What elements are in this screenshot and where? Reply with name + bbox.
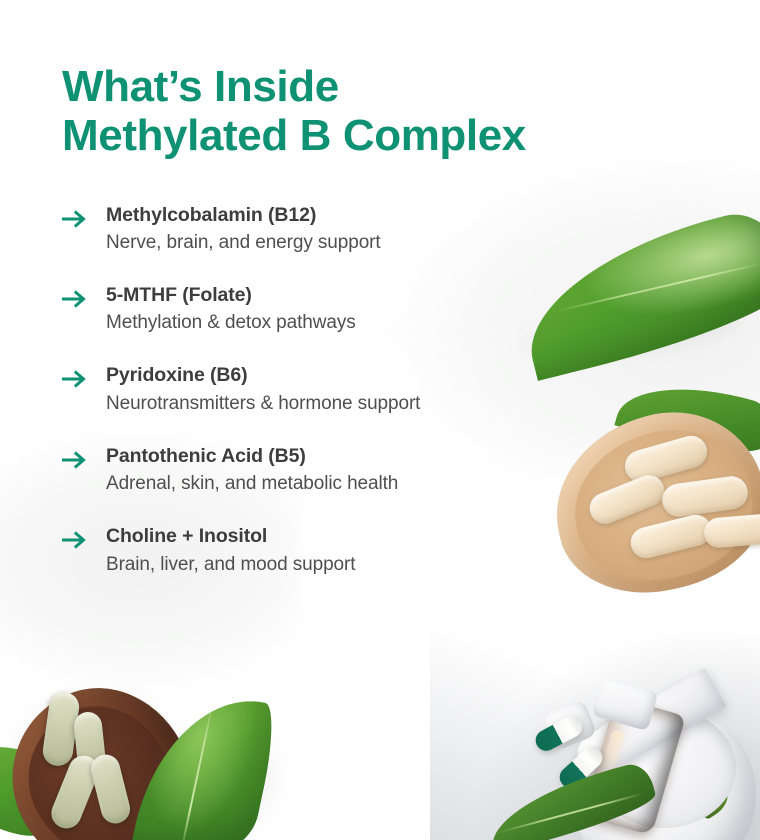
list-item: Methylcobalamin (B12) Nerve, brain, and … — [62, 203, 760, 255]
green-white-capsule — [555, 743, 606, 792]
ingredient-list: Methylcobalamin (B12) Nerve, brain, and … — [62, 203, 760, 577]
product-ingredients-graphic: What’s Inside Methylated B Complex Methy… — [0, 0, 760, 840]
list-item: Pyridoxine (B6) Neurotransmitters & horm… — [62, 363, 760, 415]
ingredient-name: Pyridoxine (B6) — [106, 364, 248, 386]
page-title: What’s Inside Methylated B Complex — [62, 62, 622, 161]
white-pestle — [569, 668, 726, 784]
green-white-capsule — [532, 712, 586, 754]
white-bottle-cap-loose — [542, 699, 597, 751]
list-item: Pantothenic Acid (B5) Adrenal, skin, and… — [62, 444, 760, 496]
bay-leaf-in-mortar — [626, 691, 735, 827]
herbal-capsule — [73, 711, 108, 780]
leaf-shadow — [150, 724, 290, 840]
list-item-text: Pyridoxine (B6) Neurotransmitters & horm… — [106, 363, 760, 415]
white-mortar-bowl — [572, 702, 756, 840]
ingredient-description: Neurotransmitters & hormone support — [106, 391, 760, 416]
arrow-right-icon — [62, 367, 88, 391]
page-title-line-1: What’s Inside — [62, 62, 622, 111]
green-leaf-bottom-left — [129, 682, 281, 840]
herbal-capsule — [41, 690, 81, 767]
herbal-capsule — [47, 751, 103, 833]
bay-leaf-bottom-center — [482, 760, 660, 840]
ingredient-name: Methylcobalamin (B12) — [106, 204, 316, 226]
arrow-right-icon — [62, 207, 88, 231]
white-bottle-cap — [592, 677, 659, 731]
dark-wooden-bowl — [0, 660, 220, 840]
arrow-right-icon — [62, 528, 88, 552]
list-item: Choline + Inositol Brain, liver, and moo… — [62, 524, 760, 576]
ingredient-description: Adrenal, skin, and metabolic health — [106, 471, 760, 496]
list-item-text: 5-MTHF (Folate) Methylation & detox path… — [106, 283, 760, 335]
ingredient-name: Pantothenic Acid (B5) — [106, 445, 306, 467]
ingredient-description: Methylation & detox pathways — [106, 310, 760, 335]
white-mortar-rim — [592, 708, 736, 828]
page-title-line-2: Methylated B Complex — [62, 111, 622, 160]
list-item-text: Pantothenic Acid (B5) Adrenal, skin, and… — [106, 444, 760, 496]
mortar-shadow — [562, 704, 752, 840]
pestle-hole — [609, 699, 622, 712]
ingredient-name: Choline + Inositol — [106, 525, 267, 547]
amber-dropper-bottle — [582, 696, 685, 835]
list-item-text: Choline + Inositol Brain, liver, and moo… — [106, 524, 760, 576]
leaf-vein — [180, 703, 213, 840]
arrow-right-icon — [62, 287, 88, 311]
bottle-highlight — [602, 729, 626, 771]
list-item-text: Methylcobalamin (B12) Nerve, brain, and … — [106, 203, 760, 255]
content-area: What’s Inside Methylated B Complex Methy… — [0, 0, 760, 577]
marble-surface — [430, 590, 760, 840]
green-leaf-left-edge — [0, 712, 79, 840]
list-item: 5-MTHF (Folate) Methylation & detox path… — [62, 283, 760, 335]
bowl-shadow — [6, 696, 186, 840]
dark-wooden-bowl-well — [6, 684, 195, 840]
arrow-right-icon — [62, 448, 88, 472]
herbal-capsule — [88, 752, 133, 827]
ingredient-name: 5-MTHF (Folate) — [106, 284, 252, 306]
leaf-vein — [498, 793, 643, 834]
ingredient-description: Brain, liver, and mood support — [106, 552, 760, 577]
ingredient-description: Nerve, brain, and energy support — [106, 230, 760, 255]
